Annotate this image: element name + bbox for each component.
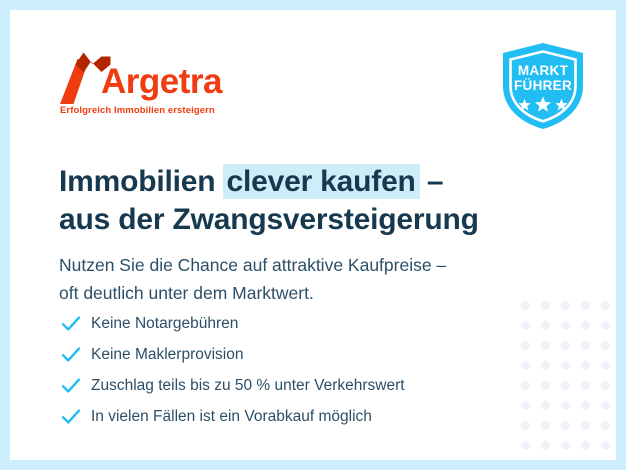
page-title: Immobilien clever kaufen – aus der Zwang… [59, 163, 529, 239]
grid-dot [561, 321, 570, 330]
check-icon [61, 408, 91, 426]
grid-dot [521, 421, 530, 430]
grid-dot [541, 441, 550, 450]
benefit-item: Keine Notargebühren [61, 308, 511, 339]
grid-dot [521, 381, 530, 390]
grid-dot [561, 441, 570, 450]
benefit-label: Keine Notargebühren [91, 315, 238, 333]
subheadline-line-2: oft deutlich unter dem Marktwert. [59, 283, 314, 303]
grid-dot [521, 441, 530, 450]
benefit-item: In vielen Fällen ist ein Vorabkauf mögli… [61, 401, 511, 432]
benefits-list: Keine NotargebührenKeine Maklerprovision… [61, 308, 511, 432]
grid-dot [561, 381, 570, 390]
grid-dot [581, 341, 590, 350]
grid-dot [521, 341, 530, 350]
grid-dot [561, 361, 570, 370]
grid-dot [521, 361, 530, 370]
benefit-label: Zuschlag teils bis zu 50 % unter Verkehr… [91, 377, 405, 395]
advertisement-card: Argetra Erfolgreich Immobilien ersteiger… [10, 10, 616, 460]
headline-post: – [419, 165, 444, 198]
logo-wordmark: Argetra [101, 64, 222, 99]
subheadline-line-1: Nutzen Sie die Chance auf attraktive Kau… [59, 255, 446, 275]
grid-dot [581, 361, 590, 370]
grid-dot [561, 301, 570, 310]
grid-dot [601, 361, 610, 370]
check-icon [61, 377, 91, 395]
shield-icon [497, 40, 589, 132]
grid-dot [521, 321, 530, 330]
check-icon [61, 315, 91, 333]
grid-dot [601, 441, 610, 450]
benefit-item: Zuschlag teils bis zu 50 % unter Verkehr… [61, 370, 511, 401]
grid-dot [541, 381, 550, 390]
grid-dot [581, 421, 590, 430]
grid-dot [521, 401, 530, 410]
benefit-label: In vielen Fällen ist ein Vorabkauf mögli… [91, 408, 372, 426]
benefit-item: Keine Maklerprovision [61, 339, 511, 370]
grid-dot [561, 341, 570, 350]
grid-dot [541, 361, 550, 370]
check-icon [61, 346, 91, 364]
grid-dot [581, 401, 590, 410]
grid-dot [601, 301, 610, 310]
grid-dot [561, 421, 570, 430]
headline-pre: Immobilien [59, 165, 224, 198]
grid-dot [541, 421, 550, 430]
grid-dot [541, 321, 550, 330]
logo-tagline: Erfolgreich Immobilien ersteigern [60, 105, 215, 116]
grid-dot [601, 401, 610, 410]
argetra-logo[interactable]: Argetra Erfolgreich Immobilien ersteiger… [57, 48, 247, 120]
grid-dot [541, 401, 550, 410]
grid-dot [601, 341, 610, 350]
grid-dot [541, 341, 550, 350]
subheadline: Nutzen Sie die Chance auf attraktive Kau… [59, 251, 559, 307]
benefit-label: Keine Maklerprovision [91, 346, 244, 364]
headline-line-1: Immobilien clever kaufen – [59, 165, 443, 198]
grid-dot [581, 381, 590, 390]
grid-dot [601, 321, 610, 330]
grid-dot [561, 401, 570, 410]
headline-line-2: aus der Zwangsversteigerung [59, 203, 479, 236]
grid-dot [581, 441, 590, 450]
grid-dot [601, 381, 610, 390]
grid-dot [601, 421, 610, 430]
market-leader-badge: MARKT FÜHRER [497, 40, 589, 132]
grid-dot [581, 321, 590, 330]
headline-highlight: clever kaufen [223, 164, 420, 199]
dot-grid-decoration [521, 301, 616, 460]
grid-dot [581, 301, 590, 310]
